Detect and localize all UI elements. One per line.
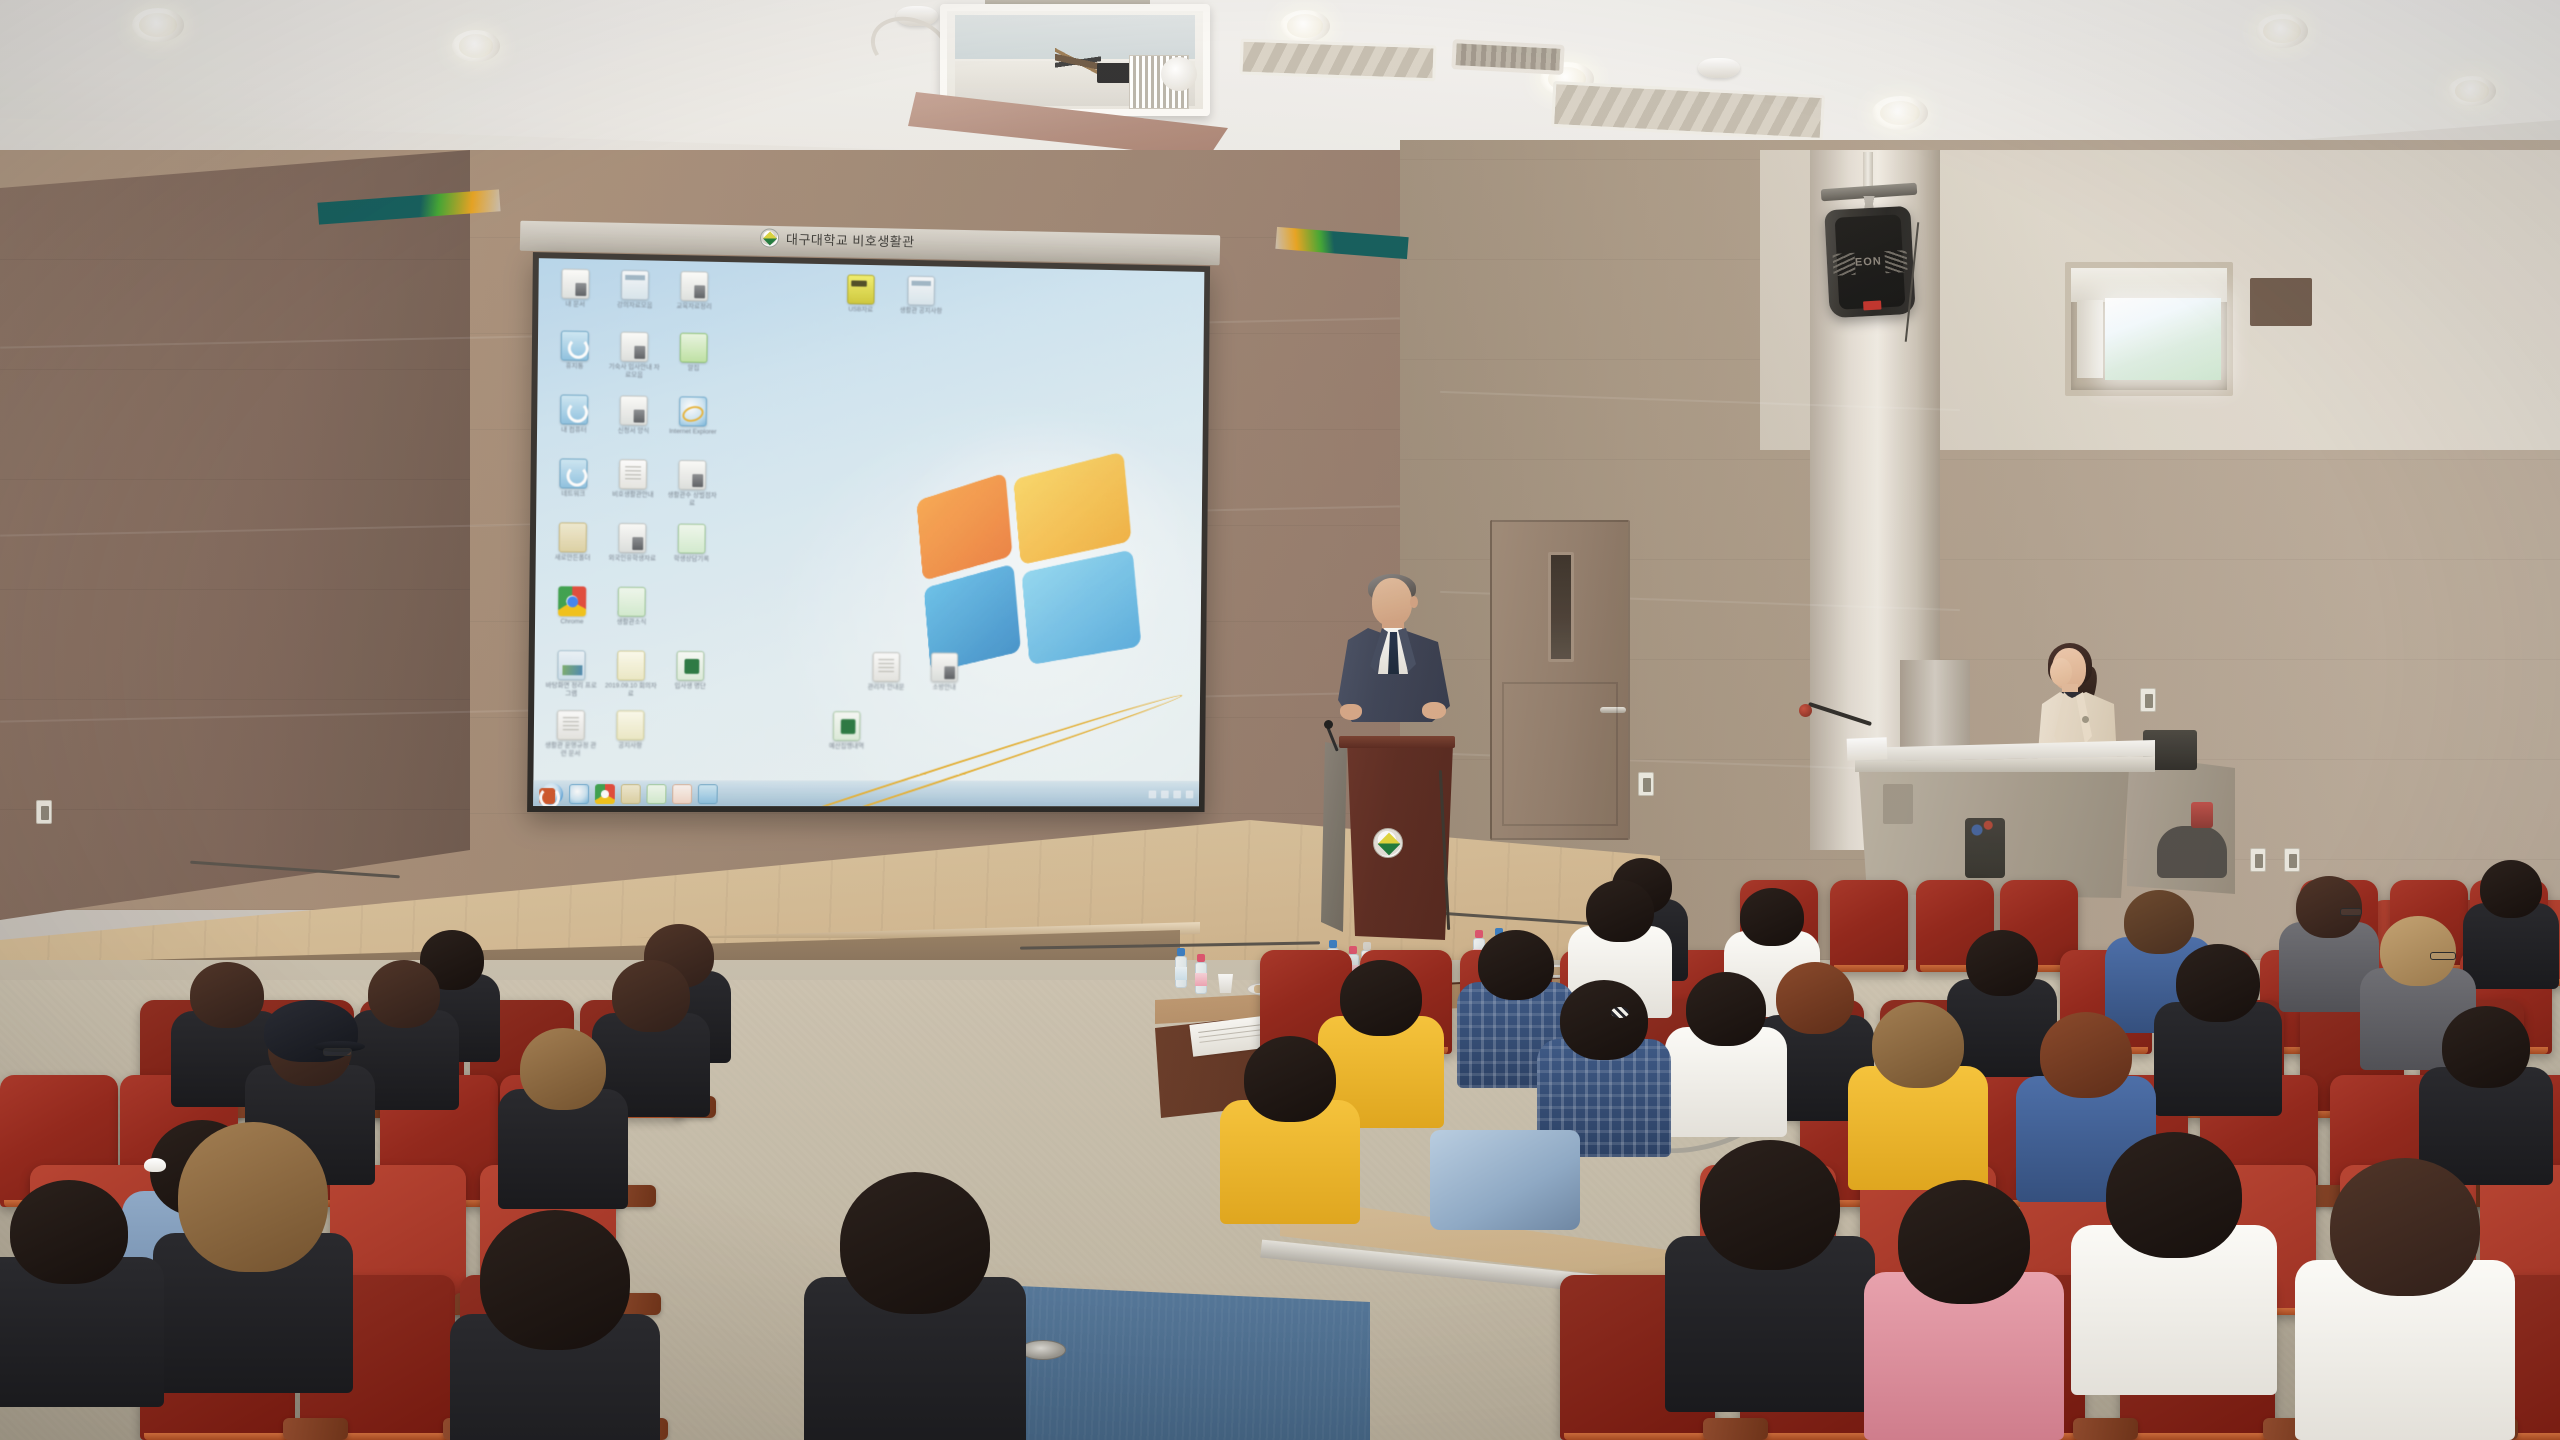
windows-logo-icon [915, 457, 1144, 665]
floor-power-port [1020, 1340, 1066, 1360]
podium [1325, 700, 1455, 940]
jbl-eon-speaker: EON [1815, 152, 1925, 332]
ceiling-air-vent [1239, 39, 1436, 82]
control-desk-equipment [1965, 818, 2005, 878]
audience-head [1966, 930, 2038, 996]
desktop-icon-label: 학생상담기록 [665, 555, 718, 563]
alzip-icon[interactable] [698, 784, 718, 804]
desktop-icon[interactable]: 예산집행내역 [820, 711, 873, 750]
desktop-icon-label: 신청서 양식 [607, 427, 661, 435]
taskbar[interactable] [533, 780, 1199, 806]
ie-icon [679, 396, 707, 426]
hair-bow [144, 1158, 166, 1172]
desktop-icon-label: 기숙사 입사안내 자료모음 [607, 363, 661, 379]
window-glass [2105, 298, 2221, 380]
audience-head [10, 1180, 128, 1284]
audience-head [1340, 960, 1422, 1036]
wall-outlet-icon [1638, 772, 1654, 796]
venue-sign-text: 대구대학교 비호생활관 [786, 228, 915, 250]
desktop-icon-label: 내 컴퓨터 [547, 426, 601, 434]
desktop-icon[interactable]: 입사생 명단 [663, 651, 717, 691]
water-bottle [1175, 948, 1187, 988]
audience-head [840, 1172, 990, 1314]
downlight-icon [132, 8, 184, 42]
doc-icon [620, 395, 648, 425]
projected-desktop: 내 문서강의자료모음교육자료정리USB자료생활관 공지사항휴지통기숙사 입사안내… [533, 258, 1204, 806]
desktop-icon[interactable]: 관리자 안내문 [860, 652, 913, 691]
doc-icon [620, 332, 648, 362]
audience-head [190, 962, 264, 1028]
desktop-icon[interactable]: USB자료 [834, 274, 887, 314]
rec-icon [561, 331, 589, 361]
wall-outlet-icon [2140, 688, 2156, 712]
wall-outlet-icon [2284, 848, 2300, 872]
audience-head [2040, 1012, 2132, 1098]
ie-icon[interactable] [569, 784, 589, 804]
seat-armrest [283, 1418, 348, 1440]
eyeglasses-icon [2340, 908, 2362, 916]
audience-head [1586, 880, 1654, 942]
desktop-icon[interactable]: 내 컴퓨터 [547, 394, 601, 434]
win-icon [907, 276, 934, 306]
desktop-icon[interactable]: 학생상담기록 [665, 523, 719, 563]
hancom-icon[interactable] [646, 784, 666, 804]
presenter-head [1372, 578, 1412, 626]
seat-armrest [1703, 1418, 1768, 1440]
audience-head [178, 1122, 328, 1272]
audience-head [2442, 1006, 2530, 1088]
pink-drink-bottle [1195, 954, 1207, 994]
audience-head [1872, 1002, 1964, 1088]
venue-sign: 대구대학교 비호생활관 [760, 223, 1021, 256]
rec-icon [559, 458, 587, 488]
speaker-body: EON [1824, 206, 1916, 318]
desktop-icon[interactable]: 2019.09.10 회의자료 [604, 650, 658, 697]
projector-lens-icon [1161, 57, 1197, 91]
desktop-icon[interactable]: 휴지통 [548, 330, 602, 370]
desktop-icon[interactable]: 공지사항 [603, 710, 657, 750]
downlight-icon [1280, 10, 1330, 42]
podium-side-panel [1321, 742, 1347, 932]
wall-panel-dark [2250, 278, 2312, 326]
audience-head [520, 1028, 606, 1110]
desktop-icon[interactable]: 소방안내 [918, 652, 971, 691]
doc-icon [618, 523, 646, 553]
paper-cup [1217, 974, 1234, 993]
chrome-icon [558, 586, 586, 616]
desktop-icon-label: 비호생활관안내 [606, 491, 660, 499]
desktop-icon-label: Internet Explorer [666, 428, 719, 436]
window-side-pane [2077, 300, 2103, 378]
desktop-icon-label: 생활관 공지사항 [895, 307, 947, 315]
ceiling-projector [930, 0, 1220, 154]
desktop-icon[interactable]: 비호생활관안내 [606, 459, 660, 499]
window-blind[interactable] [2071, 268, 2227, 302]
audience-head [480, 1210, 630, 1350]
desktop-icon-label: 관리자 안내문 [860, 684, 913, 692]
audience-head [2176, 944, 2260, 1022]
desktop-icon-label: 생활관소식 [605, 619, 659, 627]
powerpoint-icon[interactable] [672, 784, 692, 804]
audience-head [1244, 1036, 1336, 1122]
desktop-icon[interactable]: 강의자료모음 [608, 270, 662, 310]
usb-icon [847, 274, 875, 304]
desktop-icon[interactable]: 교육자료정리 [667, 271, 721, 311]
projection-screen: 내 문서강의자료모음교육자료정리USB자료생활관 공지사항휴지통기숙사 입사안내… [527, 252, 1210, 812]
wall-outlet-icon [2250, 848, 2266, 872]
xls-icon [676, 651, 704, 681]
side-door[interactable] [1490, 520, 1630, 840]
audience-head [2124, 890, 2194, 954]
note-icon [617, 651, 645, 681]
txt-icon [557, 710, 585, 740]
audience-head [1560, 980, 1648, 1060]
desktop-icon-label: 네트워크 [546, 490, 600, 498]
desktop-icon[interactable]: 알집 [667, 332, 721, 372]
desktop-icon[interactable]: 바탕화면 정리 프로그램 [544, 650, 598, 697]
xls-icon [833, 711, 861, 741]
desktop-icon[interactable]: 생활관소식 [605, 587, 659, 627]
jbl-badge-icon [1863, 300, 1881, 310]
desktop-icon[interactable]: 내 문서 [548, 268, 602, 308]
desktop-icon-label: 외국인유학생자료 [605, 555, 659, 563]
system-tray[interactable] [1098, 786, 1193, 804]
desktop-icon-label: 생활관 운영규정 관련 문서 [544, 742, 598, 757]
desktop-icon-label: 공지사항 [603, 742, 657, 750]
speaker-brand-text: EON [1855, 255, 1882, 268]
audience-head [2480, 860, 2542, 918]
seat-armrest [2073, 1418, 2138, 1440]
downlight-icon [2448, 76, 2496, 106]
projector-housing [940, 4, 1210, 116]
desktop-icon[interactable]: 생활관 공지사항 [895, 275, 948, 315]
chrome-icon[interactable] [595, 784, 615, 804]
audience-head [1700, 1140, 1840, 1270]
audience-head [2296, 876, 2362, 938]
audience-head [612, 960, 690, 1032]
downlight-icon [1872, 96, 1928, 130]
desk-chair [2157, 826, 2227, 878]
desktop-icon-label: USB자료 [834, 306, 887, 314]
microphone-head-icon [1324, 720, 1333, 729]
wall-outlet-icon [36, 800, 52, 824]
audience-head [1478, 930, 1554, 1000]
desktop-icon-label: 교육자료정리 [667, 303, 720, 311]
desktop-icon-label: 입사생 명단 [663, 683, 716, 691]
desktop-icon-label: 내 문서 [548, 300, 602, 309]
desktop-icon-label: 바탕화면 정리 프로그램 [544, 682, 598, 697]
university-emblem-icon [1373, 828, 1403, 858]
win-icon [621, 270, 649, 300]
auditorium-photo: EON 대구대학교 비호생활관 내 문서강의자료모음교육자료정리USB자료생활관… [0, 0, 2560, 1440]
ceiling-speaker-grille [1451, 39, 1564, 75]
podium-top [1339, 736, 1455, 748]
downlight-icon [2256, 14, 2308, 48]
audience-head [2106, 1132, 2242, 1258]
desktop-icon[interactable]: 기숙사 입사안내 자료모음 [607, 331, 661, 379]
auditorium-seat[interactable] [1830, 880, 1908, 972]
hwp-icon [618, 587, 646, 617]
desktop-icon[interactable]: 네트워크 [546, 458, 600, 498]
eyeglasses-icon [323, 1048, 352, 1056]
university-emblem-icon [760, 228, 779, 247]
desktop-icon[interactable]: 생활관 운영규정 관련 문서 [544, 710, 598, 757]
audience-head [2380, 916, 2456, 986]
audience-head [1898, 1180, 2030, 1304]
downlight-icon [452, 30, 500, 62]
eyeglasses-icon [2430, 952, 2456, 960]
control-desk-panel[interactable] [1883, 784, 1913, 824]
desktop-icon-label: 강의자료모음 [608, 301, 662, 309]
desktop-icon-label: 2019.09.10 회의자료 [604, 682, 658, 697]
wall-window [2065, 262, 2233, 396]
audience-head [1740, 888, 1804, 946]
doc-icon [678, 460, 706, 490]
fold-icon [559, 522, 587, 552]
desktop-icon[interactable]: Internet Explorer [666, 396, 720, 436]
desktop-icon-label: 알집 [667, 364, 720, 372]
door-window [1548, 552, 1574, 662]
txt-icon [619, 459, 647, 489]
desk-object-red [2191, 802, 2213, 828]
txt-icon [872, 652, 900, 682]
projector-wiring [1055, 25, 1101, 99]
desktop-icon[interactable]: 새로만든폴더 [546, 522, 600, 562]
desktop-icon-label: 생활관수 상벌점자료 [665, 492, 718, 508]
smoke-detector-icon [1698, 58, 1740, 78]
audience-head [1686, 972, 1766, 1046]
desktop-icon-label: 예산집행내역 [820, 743, 873, 751]
desktop-icon-label: 새로만든폴더 [546, 554, 600, 562]
audience-head [1776, 962, 1854, 1034]
img-icon [557, 650, 585, 680]
doc-icon [680, 271, 708, 301]
doc-icon [561, 269, 589, 299]
desktop-icon[interactable]: 외국인유학생자료 [605, 523, 659, 563]
desktop-icon[interactable]: 신청서 양식 [607, 395, 661, 435]
microphone-head-icon [1799, 704, 1812, 717]
door-handle-icon[interactable] [1600, 707, 1626, 713]
hwp-icon [678, 524, 706, 554]
rec-icon [560, 394, 588, 424]
doc-icon [931, 652, 958, 682]
desktop-icon-label: Chrome [545, 618, 599, 626]
note-icon [616, 710, 644, 740]
desktop-icon-label: 소방안내 [918, 684, 970, 692]
desktop-icon-label: 휴지통 [548, 362, 602, 370]
desktop-icon[interactable]: 생활관수 상벌점자료 [665, 460, 719, 507]
leaf-icon [680, 333, 708, 363]
draped-jacket [1430, 1130, 1580, 1230]
audience-head [368, 960, 440, 1028]
folder-icon[interactable] [621, 784, 641, 804]
audience-head [2330, 1158, 2480, 1296]
desktop-icon[interactable]: Chrome [545, 586, 599, 626]
